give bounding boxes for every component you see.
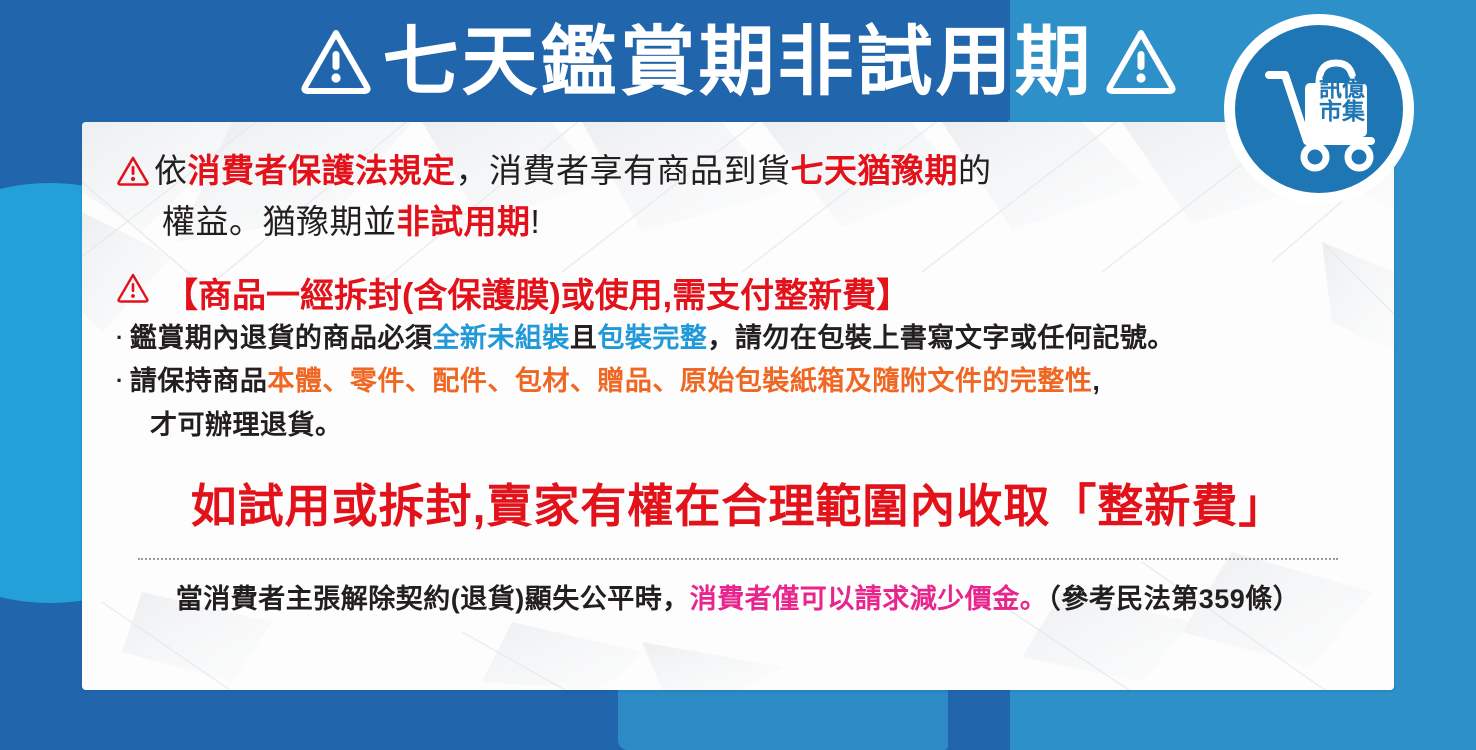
bullet1-seg0: 鑑賞期內退貨的商品必須 — [130, 323, 433, 353]
heading-restocking-fee-text: 【商品一經拆封(含保護膜)或使用,需支付整新費】 — [164, 268, 910, 317]
bullet-marker: · — [116, 325, 124, 350]
highlight-restocking-statement: 如試用或拆封,賣家有權在合理範圍內收取「整新費」 — [116, 470, 1360, 536]
para1-emphasis-not-trial: 非試用期 — [397, 203, 531, 240]
para1-line2-text-c: ! — [531, 203, 541, 240]
poster-canvas: 七天鑑賞期非試用期 訊億 市集 — [0, 0, 1476, 750]
list-item: ·請保持商品本體、零件、配件、包材、贈品、原始包裝紙箱及隨附文件的完整性, — [116, 360, 1360, 404]
bullet2-seg0: 請保持商品 — [130, 366, 268, 396]
list-item: ·鑑賞期內退貨的商品必須全新未組裝且包裝完整，請勿在包裝上書寫文字或任何記號。 — [116, 317, 1360, 361]
para1-line2: 權益。猶豫期並非試用期! — [116, 199, 1360, 246]
warning-triangle-icon — [299, 27, 373, 100]
brand-logo-line2: 市集 — [1312, 100, 1372, 123]
footnote-part1: 當消費者主張解除契約(退貨)顯失公平時， — [176, 584, 690, 614]
para1-text-e: 的 — [958, 152, 992, 189]
bullet-marker: · — [116, 368, 124, 393]
footnote-part3-reference: （參考民法第359條） — [1047, 584, 1300, 614]
footnote-part2-price-reduction: 消費者僅可以請求減少價金。 — [690, 584, 1048, 614]
bullet2-seg1-components: 本體、零件、配件、包材、贈品、原始包裝紙箱及隨附文件的完整性 — [267, 366, 1092, 396]
paragraph-consumer-law: 依消費者保護法規定，消費者享有商品到貨七天猶豫期的 權益。猶豫期並非試用期! — [116, 148, 1360, 246]
para1-emphasis-seven-days: 七天猶豫期 — [791, 152, 959, 189]
footnote-civil-code: 當消費者主張解除契約(退貨)顯失公平時，消費者僅可以請求減少價金。（參考民法第3… — [116, 577, 1360, 616]
page-title: 七天鑑賞期非試用期 — [383, 25, 1094, 101]
bullet-continuation: 才可辦理退貨。 — [116, 404, 1360, 448]
background-bottom-strip — [618, 688, 948, 750]
brand-logo-text: 訊億 市集 — [1312, 77, 1372, 123]
heading-restocking-fee: 【商品一經拆封(含保護膜)或使用,需支付整新費】 — [116, 268, 1360, 317]
para1-line2-text-a: 權益。猶豫期並 — [162, 203, 397, 240]
para1-emphasis-law: 消費者保護法規定 — [188, 152, 456, 189]
bullet1-seg2: 且 — [570, 323, 598, 353]
divider — [138, 558, 1338, 560]
bullet2-seg2: , — [1092, 366, 1100, 396]
warning-triangle-icon — [1104, 27, 1178, 100]
warning-triangle-icon — [116, 272, 150, 312]
bullet1-seg1-brand-new: 全新未組裝 — [432, 323, 570, 353]
bullet1-seg3-intact-packaging: 包裝完整 — [597, 323, 707, 353]
bullet1-seg4: ，請勿在包裝上書寫文字或任何記號。 — [707, 323, 1175, 353]
warning-triangle-icon — [116, 152, 150, 199]
para1-text-a: 依 — [154, 152, 188, 189]
brand-logo-badge: 訊億 市集 — [1224, 14, 1414, 204]
shopping-cart-icon: 訊億 市集 — [1235, 25, 1403, 193]
notice-card-body: 依消費者保護法規定，消費者享有商品到貨七天猶豫期的 權益。猶豫期並非試用期! 【… — [82, 122, 1394, 690]
brand-logo-line1: 訊億 — [1312, 77, 1372, 100]
notice-card: 依消費者保護法規定，消費者享有商品到貨七天猶豫期的 權益。猶豫期並非試用期! 【… — [82, 122, 1394, 690]
para1-text-c: ，消費者享有商品到貨 — [456, 152, 791, 189]
